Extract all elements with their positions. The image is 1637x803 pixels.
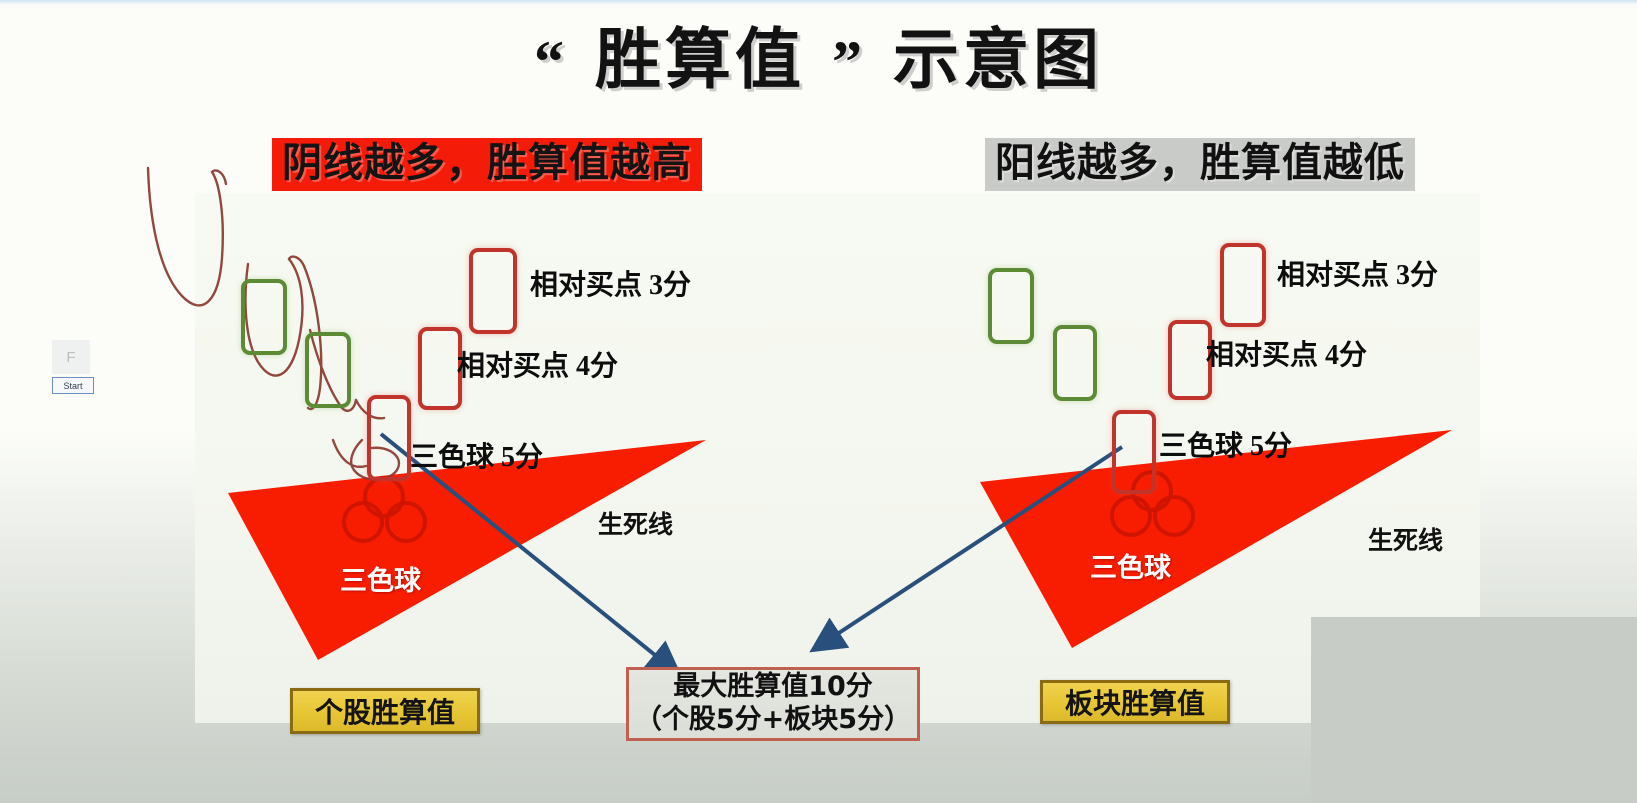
- left-candle-green-2: [305, 332, 351, 408]
- left-label-buy3: 相对买点 3分: [530, 263, 691, 303]
- right-label-buy3: 相对买点 3分: [1277, 253, 1438, 293]
- desktop-start-artifact[interactable]: F Start: [52, 340, 96, 394]
- left-candle-green-1: [241, 279, 287, 355]
- right-bottom-box[interactable]: 板块胜算值: [1040, 680, 1230, 724]
- app-icon[interactable]: F: [52, 340, 90, 374]
- start-button[interactable]: Start: [52, 377, 94, 394]
- banner-right: 阳线越多，胜算值越低: [985, 138, 1415, 191]
- right-candle-red-3fen: [1220, 243, 1266, 327]
- title-main: 胜算值: [595, 21, 805, 98]
- left-candle-red-4fen: [418, 327, 462, 410]
- right-label-lifeline: 生死线: [1368, 521, 1443, 557]
- center-max-score-box[interactable]: 最大胜算值10分 （个股5分+板块5分）: [626, 667, 920, 741]
- title-quote-open: “: [534, 29, 568, 95]
- center-box-line2: （个股5分+板块5分）: [635, 704, 911, 737]
- right-candle-red-5fen: [1112, 410, 1156, 494]
- gray-overlay-panel: [1311, 617, 1637, 803]
- right-candle-green-2: [1053, 325, 1097, 401]
- left-label-ball5: 三色球 5分: [410, 435, 543, 475]
- right-label-ball5: 三色球 5分: [1159, 424, 1292, 464]
- right-triangle-label: 三色球: [1090, 546, 1171, 585]
- banner-left: 阴线越多，胜算值越高: [272, 138, 702, 191]
- title-quote-close: ”: [832, 29, 866, 95]
- page-root: “ 胜算值 ” 示意图 阴线越多，胜算值越高 阳线越多，胜算值越低: [0, 0, 1637, 803]
- left-candle-red-5fen: [367, 395, 411, 481]
- page-title: “ 胜算值 ” 示意图: [0, 6, 1637, 102]
- right-candle-green-1: [988, 268, 1034, 344]
- left-candle-red-3fen: [469, 248, 517, 334]
- left-label-lifeline: 生死线: [598, 505, 673, 541]
- center-box-line1: 最大胜算值10分: [673, 671, 873, 704]
- right-label-buy4: 相对买点 4分: [1206, 333, 1367, 373]
- left-bottom-box[interactable]: 个股胜算值: [290, 688, 480, 734]
- left-triangle-label: 三色球: [340, 559, 421, 598]
- title-suffix: 示意图: [893, 21, 1103, 98]
- left-label-buy4: 相对买点 4分: [457, 344, 618, 384]
- top-window-strip: [0, 0, 1637, 5]
